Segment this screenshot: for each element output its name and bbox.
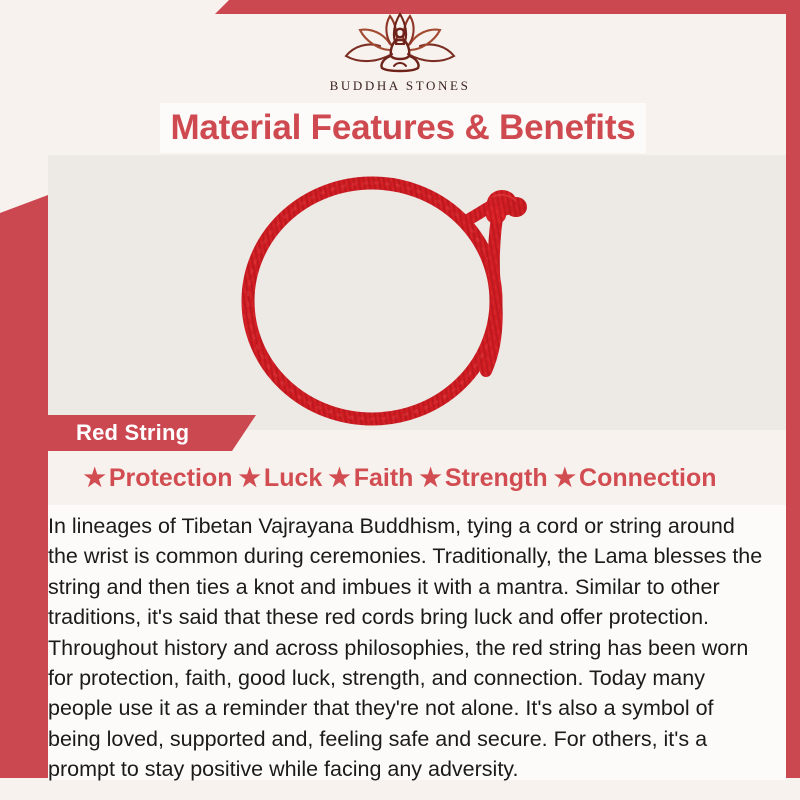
feature-label: Protection — [109, 464, 233, 493]
brand-header: BUDDHA STONES — [0, 0, 800, 104]
brand-wordmark: BUDDHA STONES — [330, 78, 471, 94]
feature-label: Faith — [354, 464, 414, 493]
page-title-box: Material Features & Benefits — [160, 103, 646, 153]
feature-list: ★ Protection ★ Luck ★ Faith ★ Strength ★… — [0, 464, 800, 493]
infographic-page: BUDDHA STONES Material Features & Benefi… — [0, 0, 800, 800]
description-paragraph: In lineages of Tibetan Vajrayana Buddhis… — [48, 511, 768, 785]
description-block: In lineages of Tibetan Vajrayana Buddhis… — [48, 505, 786, 780]
red-string-bracelet-image — [230, 163, 540, 430]
star-icon: ★ — [83, 466, 105, 491]
feature-item-connection: ★ Connection — [554, 464, 717, 493]
feature-item-luck: ★ Luck — [239, 464, 323, 493]
page-title: Material Features & Benefits — [170, 108, 635, 148]
feature-item-faith: ★ Faith — [328, 464, 413, 493]
feature-label: Luck — [264, 464, 322, 493]
star-icon: ★ — [328, 466, 350, 491]
product-name-banner: Red String — [18, 415, 256, 451]
product-name-label: Red String — [76, 420, 189, 446]
star-icon: ★ — [419, 466, 441, 491]
feature-item-strength: ★ Strength — [419, 464, 547, 493]
decorative-right-band — [786, 0, 800, 800]
star-icon: ★ — [554, 466, 576, 491]
product-photo — [48, 155, 786, 430]
feature-label: Connection — [579, 464, 717, 493]
star-icon: ★ — [239, 466, 261, 491]
lotus-meditation-icon — [334, 10, 466, 76]
feature-label: Strength — [445, 464, 548, 493]
feature-item-protection: ★ Protection — [83, 464, 232, 493]
